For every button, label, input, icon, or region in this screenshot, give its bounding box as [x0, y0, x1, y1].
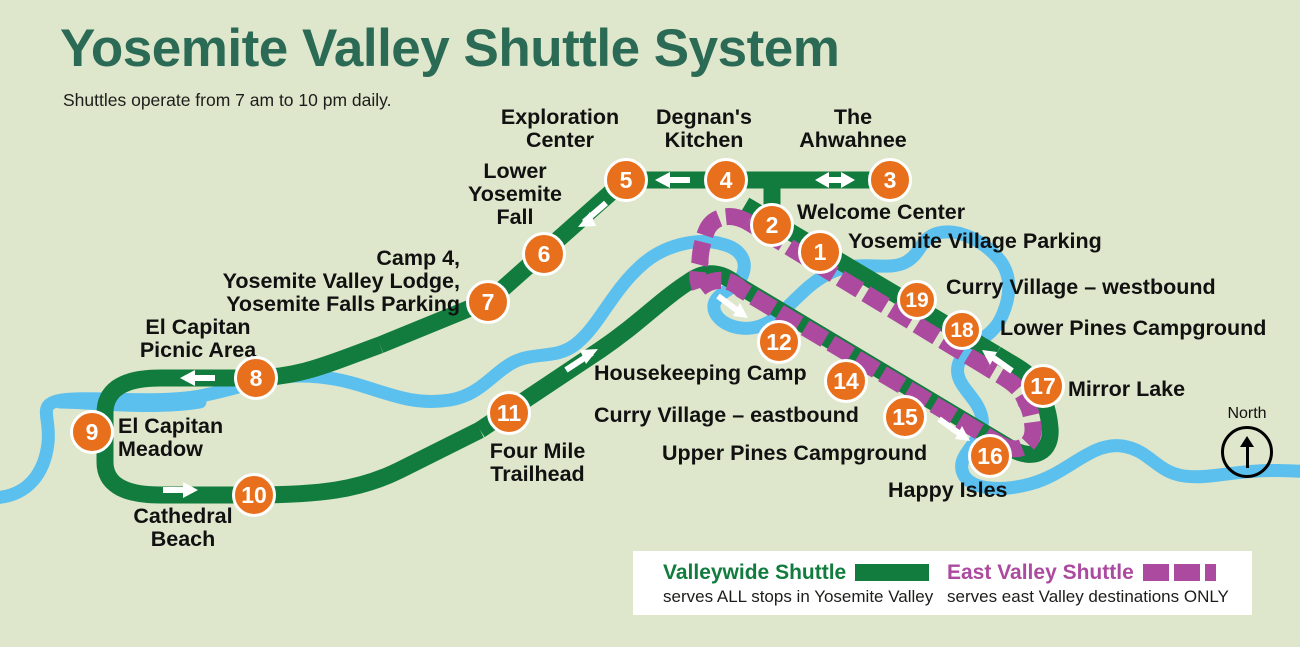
stop-label-7: Camp 4, Yosemite Valley Lodge, Yosemite … [135, 247, 460, 315]
legend: Valleywide Shuttle serves ALL stops in Y… [633, 551, 1252, 615]
legend-east-valley-subtitle: serves east Valley destinations ONLY [947, 587, 1229, 607]
stop-label-14: Curry Village – eastbound [594, 404, 924, 427]
stop-marker-8[interactable]: 8 [234, 356, 278, 400]
stop-marker-19[interactable]: 19 [897, 280, 937, 320]
stop-label-18: Lower Pines Campground [1000, 317, 1290, 340]
stop-marker-6[interactable]: 6 [522, 232, 566, 276]
stop-label-11: Four Mile Trailhead [460, 440, 615, 486]
legend-east-valley-title: East Valley Shuttle [947, 562, 1134, 583]
stop-label-2: Welcome Center [797, 201, 1097, 224]
stop-label-9: El Capitan Meadow [118, 415, 338, 461]
stop-label-17: Mirror Lake [1068, 378, 1288, 401]
stop-marker-5[interactable]: 5 [604, 158, 648, 202]
legend-valleywide-title: Valleywide Shuttle [663, 562, 846, 583]
north-arrow-label: North [1216, 406, 1278, 422]
page-title: Yosemite Valley Shuttle System [60, 22, 839, 75]
legend-valleywide-swatch-icon [855, 564, 929, 581]
legend-east-valley-swatch-icon [1143, 564, 1216, 581]
legend-east-valley: East Valley Shuttle serves east Valley d… [947, 559, 1229, 607]
stop-label-16: Happy Isles [888, 479, 1108, 502]
stop-marker-18[interactable]: 18 [942, 310, 982, 350]
stop-marker-3[interactable]: 3 [868, 158, 912, 202]
stop-label-12: Housekeeping Camp [594, 362, 924, 385]
stop-label-4: Degnan's Kitchen [614, 106, 794, 152]
page-subtitle: Shuttles operate from 7 am to 10 pm dail… [63, 90, 391, 111]
stop-label-6: Lower Yosemite Fall [435, 160, 595, 228]
north-arrow: North [1216, 406, 1278, 478]
stop-label-3: The Ahwahnee [768, 106, 938, 152]
north-arrow-icon [1221, 426, 1273, 478]
legend-valleywide-subtitle: serves ALL stops in Yosemite Valley [663, 587, 933, 607]
stop-marker-14[interactable]: 14 [824, 359, 868, 403]
stop-label-15: Upper Pines Campground [662, 442, 992, 465]
stop-marker-4[interactable]: 4 [704, 158, 748, 202]
stop-marker-1[interactable]: 1 [798, 230, 842, 274]
stop-marker-9[interactable]: 9 [70, 410, 114, 454]
stop-marker-10[interactable]: 10 [232, 473, 276, 517]
stop-label-19: Curry Village – westbound [946, 276, 1246, 299]
stop-marker-11[interactable]: 11 [487, 391, 531, 435]
stop-label-1: Yosemite Village Parking [848, 230, 1178, 253]
stop-marker-16[interactable]: 16 [968, 434, 1012, 478]
legend-valleywide: Valleywide Shuttle serves ALL stops in Y… [663, 559, 933, 607]
stop-marker-15[interactable]: 15 [883, 395, 927, 439]
stop-label-8: El Capitan Picnic Area [88, 316, 308, 362]
stop-marker-7[interactable]: 7 [466, 280, 510, 324]
stop-marker-12[interactable]: 12 [757, 320, 801, 364]
stop-marker-17[interactable]: 17 [1021, 364, 1065, 408]
shuttle-map: Yosemite Valley Shuttle System Shuttles … [0, 0, 1300, 647]
stop-marker-2[interactable]: 2 [750, 203, 794, 247]
